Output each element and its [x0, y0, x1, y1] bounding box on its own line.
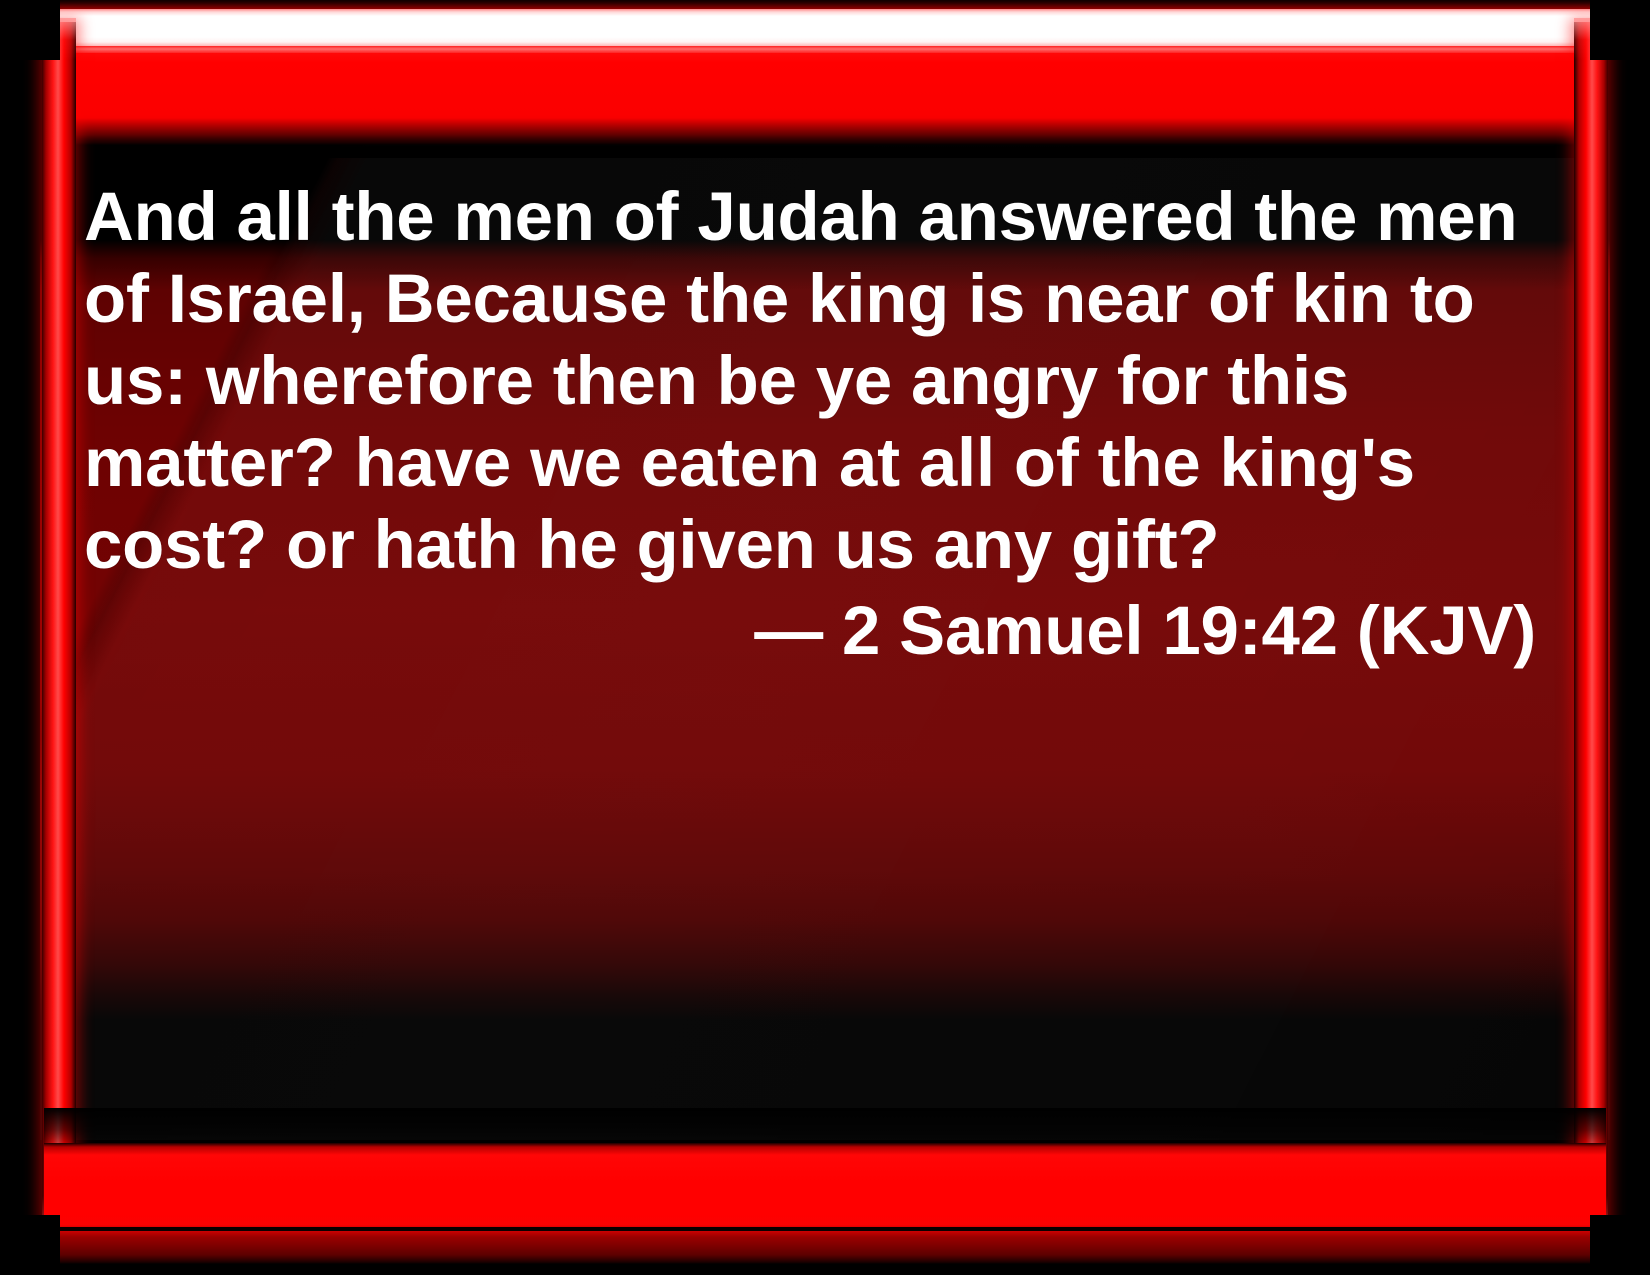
- top-black-margin: [0, 0, 1650, 9]
- top-white-highlight-bar: [52, 9, 1598, 48]
- verse-body-text: And all the men of Judah answered the me…: [84, 176, 1536, 586]
- left-red-border-bar: [42, 22, 76, 1242]
- left-bar-top-highlight: [42, 18, 76, 60]
- right-red-border-bar: [1574, 22, 1608, 1242]
- right-bar-top-highlight: [1574, 18, 1608, 60]
- bottom-red-band: [44, 1143, 1606, 1229]
- top-red-band: [44, 53, 1606, 145]
- scripture-slide: And all the men of Judah answered the me…: [0, 0, 1650, 1275]
- verse-citation: — 2 Samuel 19:42 (KJV): [84, 590, 1536, 672]
- verse-block: And all the men of Judah answered the me…: [84, 176, 1536, 672]
- bottom-dark-red-strip: [50, 1231, 1600, 1264]
